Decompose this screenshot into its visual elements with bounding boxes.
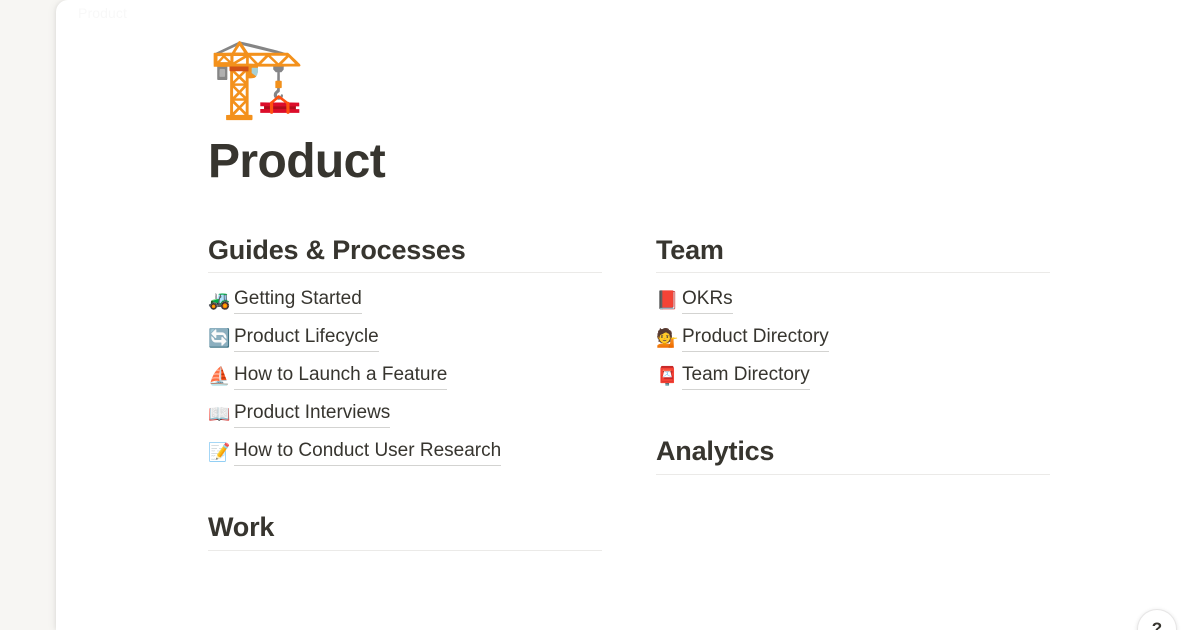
link-label[interactable]: Product Lifecycle [234,325,379,352]
breadcrumb[interactable]: Product [78,5,127,21]
section-heading: Guides & Processes [208,234,602,272]
app-root: Product 🏗️ Product Guides & Processes 🚜 … [0,0,1200,630]
postbox-emoji: 📮 [656,367,682,385]
list-item[interactable]: 📝 How to Conduct User Research [208,433,602,471]
list-item[interactable]: ⛵ How to Launch a Feature [208,357,602,395]
column-left: Guides & Processes 🚜 Getting Started 🔄 P… [208,234,602,559]
person-tipping-hand-emoji: 💁 [656,329,682,347]
page-content: 🏗️ Product Guides & Processes 🚜 Getting … [208,0,1108,559]
section-heading: Work [208,511,602,549]
link-label[interactable]: Getting Started [234,287,362,314]
link-label[interactable]: Product Directory [682,325,829,352]
list-item[interactable]: 📖 Product Interviews [208,395,602,433]
closed-book-emoji: 📕 [656,291,682,309]
list-item[interactable]: 🚜 Getting Started [208,281,602,319]
link-label[interactable]: How to Launch a Feature [234,363,447,390]
sailboat-emoji: ⛵ [208,367,234,385]
link-label[interactable]: Product Interviews [234,401,390,428]
section-divider [656,474,1050,475]
memo-emoji: 📝 [208,443,234,461]
section-guides-and-processes: Guides & Processes 🚜 Getting Started 🔄 P… [208,234,602,471]
column-right: Team 📕 OKRs 💁 Product Directory [656,234,1050,559]
section-divider [656,272,1050,273]
link-columns: Guides & Processes 🚜 Getting Started 🔄 P… [208,234,1050,559]
link-label[interactable]: How to Conduct User Research [234,439,501,466]
help-button[interactable]: ? [1137,609,1177,630]
building-construction-emoji[interactable]: 🏗️ [208,38,1108,134]
link-label[interactable]: Team Directory [682,363,810,390]
link-list: 🚜 Getting Started 🔄 Product Lifecycle ⛵ … [208,281,602,471]
list-item[interactable]: 📮 Team Directory [656,357,1050,395]
page-panel: Product 🏗️ Product Guides & Processes 🚜 … [56,0,1200,630]
section-heading: Analytics [656,435,1050,473]
section-heading: Team [656,234,1050,272]
page-title: Product [208,138,1108,186]
list-item[interactable]: 🔄 Product Lifecycle [208,319,602,357]
list-item[interactable]: 💁 Product Directory [656,319,1050,357]
section-team: Team 📕 OKRs 💁 Product Directory [656,234,1050,395]
section-divider [208,550,602,551]
section-work: Work [208,511,602,550]
tractor-emoji: 🚜 [208,291,234,309]
sidebar-rail [0,0,56,630]
list-item[interactable]: 📕 OKRs [656,281,1050,319]
arrows-counterclockwise-emoji: 🔄 [208,329,234,347]
section-divider [208,272,602,273]
link-list: 📕 OKRs 💁 Product Directory 📮 Team Direct… [656,281,1050,395]
open-book-emoji: 📖 [208,405,234,423]
section-analytics: Analytics [656,435,1050,474]
link-label[interactable]: OKRs [682,287,733,314]
